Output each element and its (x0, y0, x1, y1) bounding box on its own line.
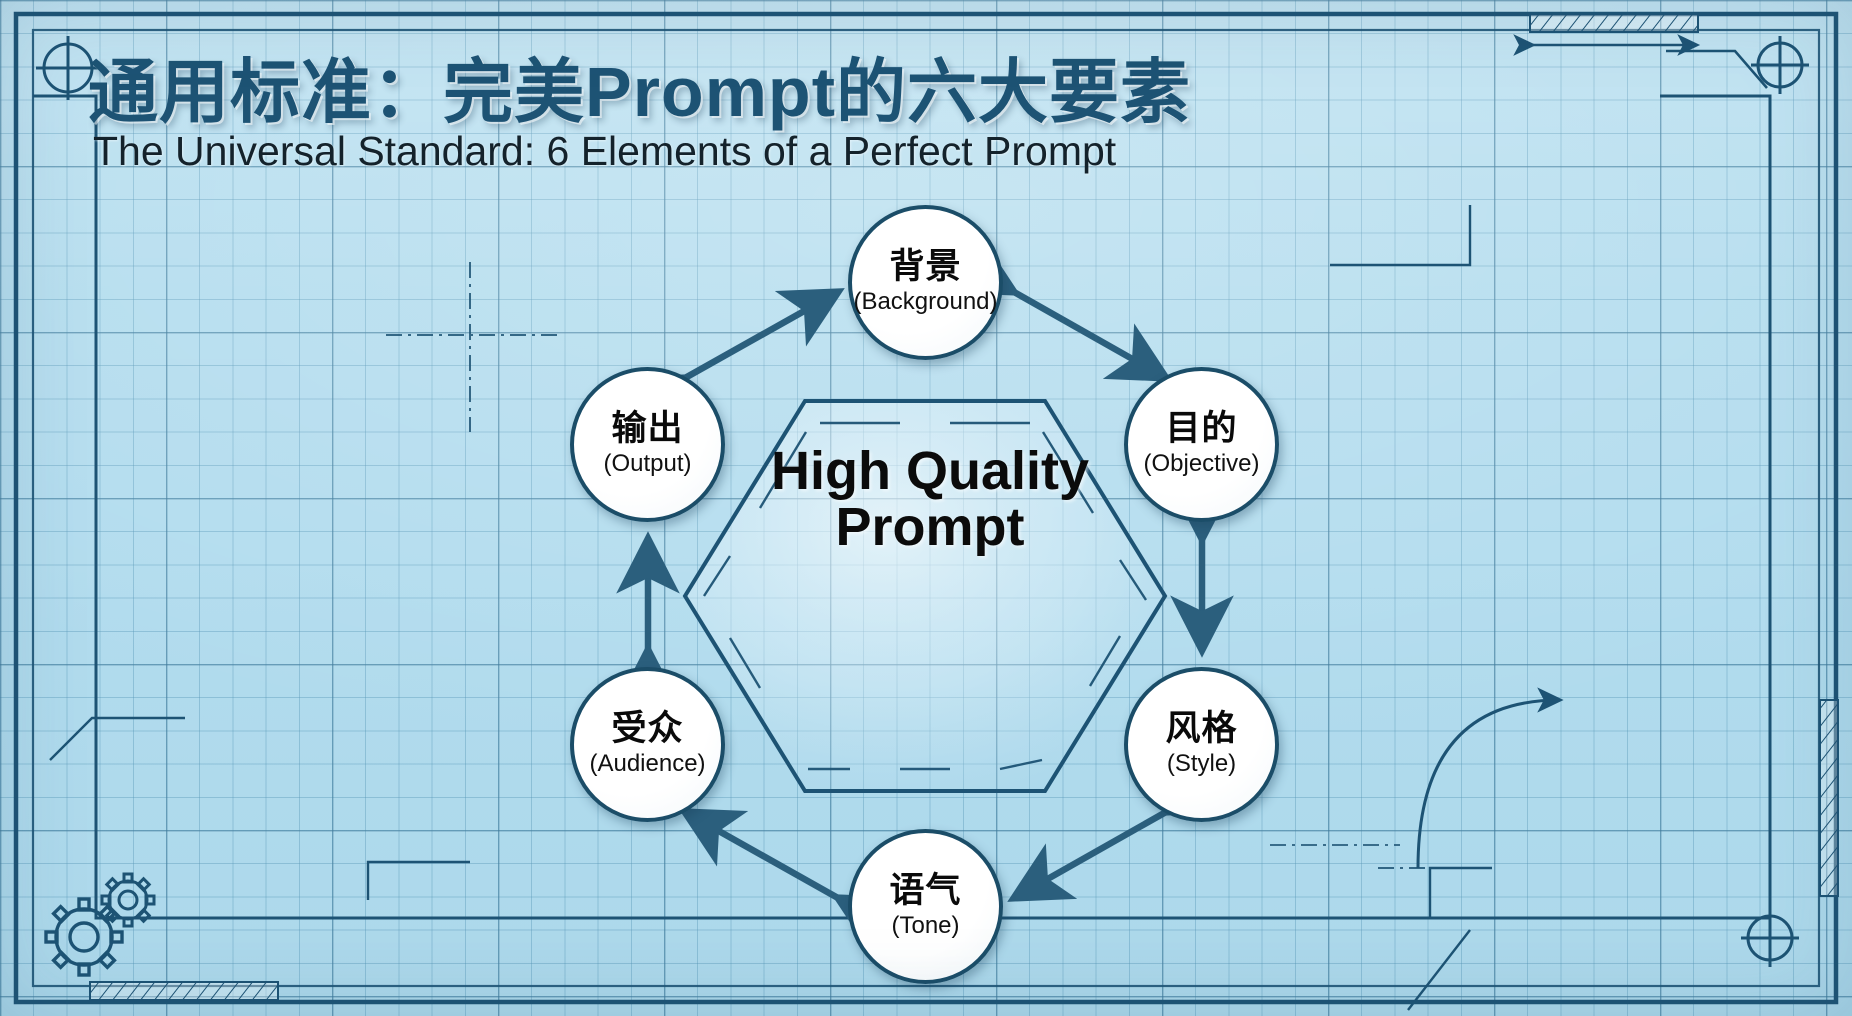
page-title-en: The Universal Standard: 6 Elements of a … (93, 128, 1116, 175)
node-audience-label-en: (Audience) (589, 750, 705, 778)
node-tone-label-zh: 语气 (889, 873, 961, 910)
node-output-label-en: (Output) (603, 450, 691, 478)
node-tone[interactable]: 语气 (Tone) (848, 829, 1003, 984)
node-audience-label-zh: 受众 (611, 711, 683, 748)
node-objective-label-en: (Objective) (1143, 450, 1259, 478)
node-tone-label-en: (Tone) (891, 912, 959, 940)
center-hexagon (685, 401, 1165, 791)
connector-background-objective (1014, 292, 1166, 378)
node-style-label-zh: 风格 (1165, 711, 1237, 748)
node-objective[interactable]: 目的 (Objective) (1124, 367, 1279, 522)
node-background-label-en: (Background) (853, 288, 997, 316)
hatched-bar-top-right (1530, 14, 1698, 32)
page-title-zh: 通用标准：完美Prompt的六大要素 (88, 36, 1191, 137)
gear-icon-small (102, 874, 154, 926)
elbow-bracket-bottom-right (1408, 868, 1492, 1010)
node-style-label-en: (Style) (1167, 750, 1236, 778)
centerline-left (386, 262, 560, 432)
node-output[interactable]: 输出 (Output) (570, 367, 725, 522)
connector-tone-audience (685, 812, 838, 898)
node-background[interactable]: 背景 (Background) (848, 205, 1003, 360)
node-style[interactable]: 风格 (Style) (1124, 667, 1279, 822)
elbow-bracket-lower-left (50, 718, 185, 760)
hatched-bar-bottom-left (90, 982, 278, 1000)
curved-arrow (1418, 700, 1560, 868)
connector-output-background (685, 292, 838, 378)
node-audience[interactable]: 受众 (Audience) (570, 667, 725, 822)
connector-style-tone (1014, 812, 1166, 898)
blueprint-canvas: 通用标准：完美Prompt的六大要素 The Universal Standar… (0, 0, 1852, 1016)
node-output-label-zh: 输出 (611, 411, 683, 448)
node-background-label-zh: 背景 (889, 249, 961, 286)
node-objective-label-zh: 目的 (1165, 411, 1237, 448)
registration-mark-top-right (1751, 36, 1809, 94)
hatched-bar-right-edge (1820, 700, 1838, 896)
elbow-bracket-lower-mid (368, 862, 470, 900)
elbow-bracket-upper-right (1330, 205, 1470, 265)
